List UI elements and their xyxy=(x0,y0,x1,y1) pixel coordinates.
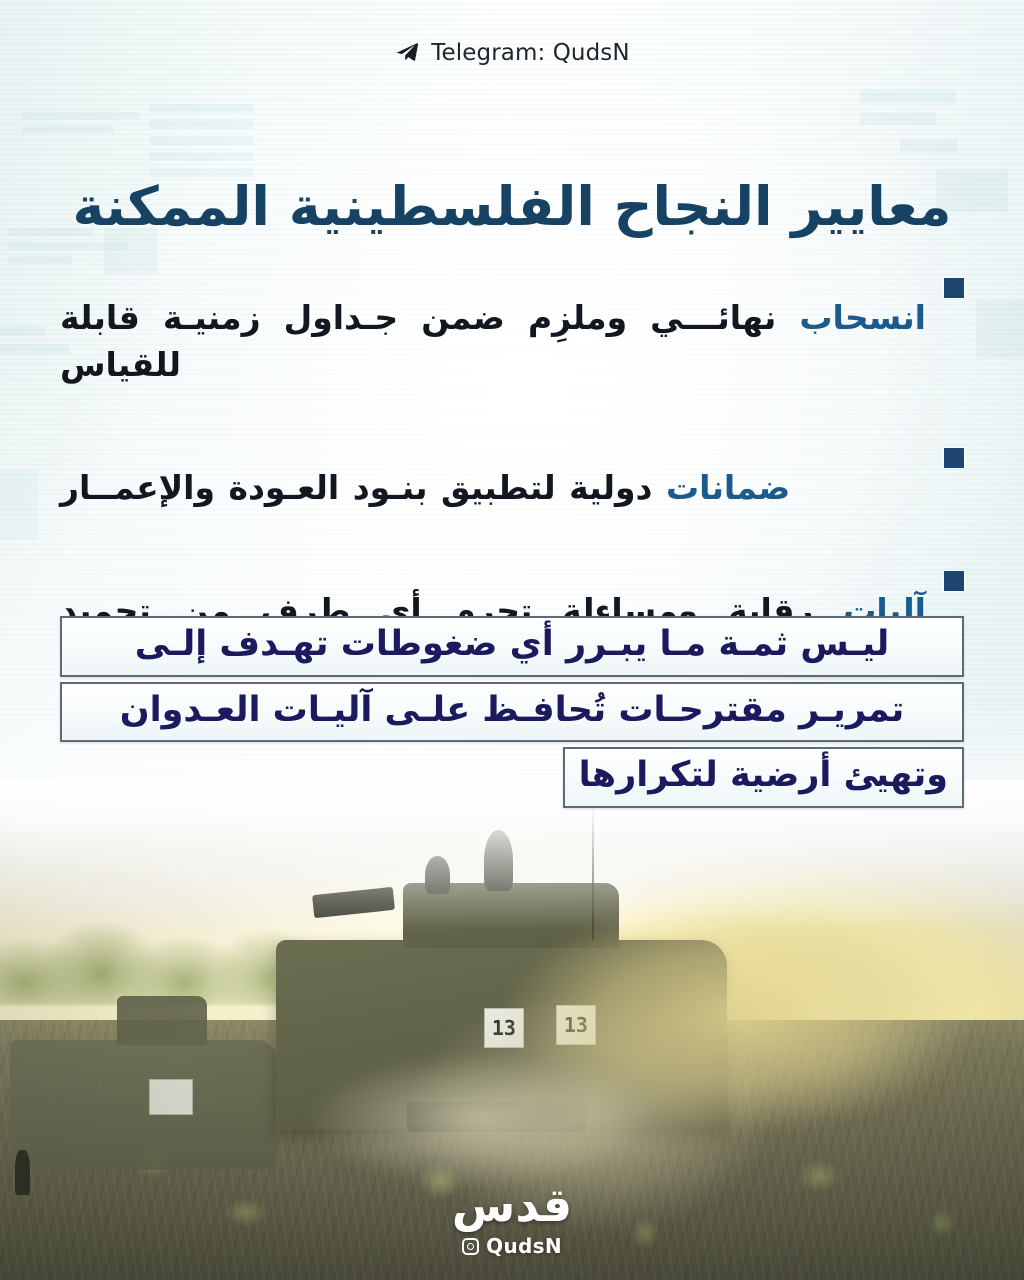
list-item-text: انسحاب نهائـــي وملزِم ضمن جـداول زمنيـة… xyxy=(60,295,926,389)
header-channel-label: Telegram: QudsN xyxy=(431,40,629,66)
list-item-keyword: ضمانات xyxy=(666,468,790,507)
instagram-icon xyxy=(462,1238,479,1255)
square-bullet-icon xyxy=(944,571,964,591)
telegram-paper-plane-icon xyxy=(394,40,420,66)
square-bullet-icon xyxy=(944,278,964,298)
source-header: Telegram: QudsN xyxy=(0,36,1024,70)
brand-handle-label: QudsN xyxy=(486,1234,562,1258)
list-item-keyword: انسحاب xyxy=(799,298,926,337)
brand-handle[interactable]: QudsN xyxy=(462,1234,562,1258)
page-title: معايير النجاح الفلسطينية الممكنة xyxy=(72,178,952,235)
list-item: ضمانات دولية لتطبيق بنـود العـودة والإعم… xyxy=(60,432,964,545)
pull-quote-line: تمريـر مقترحـات تُحافـظ علـى آليـات العـ… xyxy=(60,682,964,743)
pull-quote-line: وتهيئ أرضية لتكرارها xyxy=(563,747,964,808)
pull-quote-line: ليـس ثمـة مـا يبـرر أي ضغوطات تهـدف إلـى xyxy=(60,616,964,677)
brand-logo-arabic: قدس xyxy=(452,1182,572,1228)
pull-quote: ليـس ثمـة مـا يبـرر أي ضغوطات تهـدف إلـى… xyxy=(60,616,964,808)
list-item-body: دولية لتطبيق بنـود العـودة والإعمــار xyxy=(60,468,652,507)
square-bullet-icon xyxy=(944,448,964,468)
list-item-text: ضمانات دولية لتطبيق بنـود العـودة والإعم… xyxy=(60,465,926,512)
list-item: انسحاب نهائـــي وملزِم ضمن جـداول زمنيـة… xyxy=(60,262,964,422)
footer-branding: قدس QudsN xyxy=(0,1182,1024,1258)
list-item-body: نهائـــي وملزِم ضمن جـداول زمنيـة قابلة … xyxy=(60,298,776,384)
infographic-canvas: Telegram: QudsN معايير النجاح الفلسطينية… xyxy=(0,0,1024,1280)
